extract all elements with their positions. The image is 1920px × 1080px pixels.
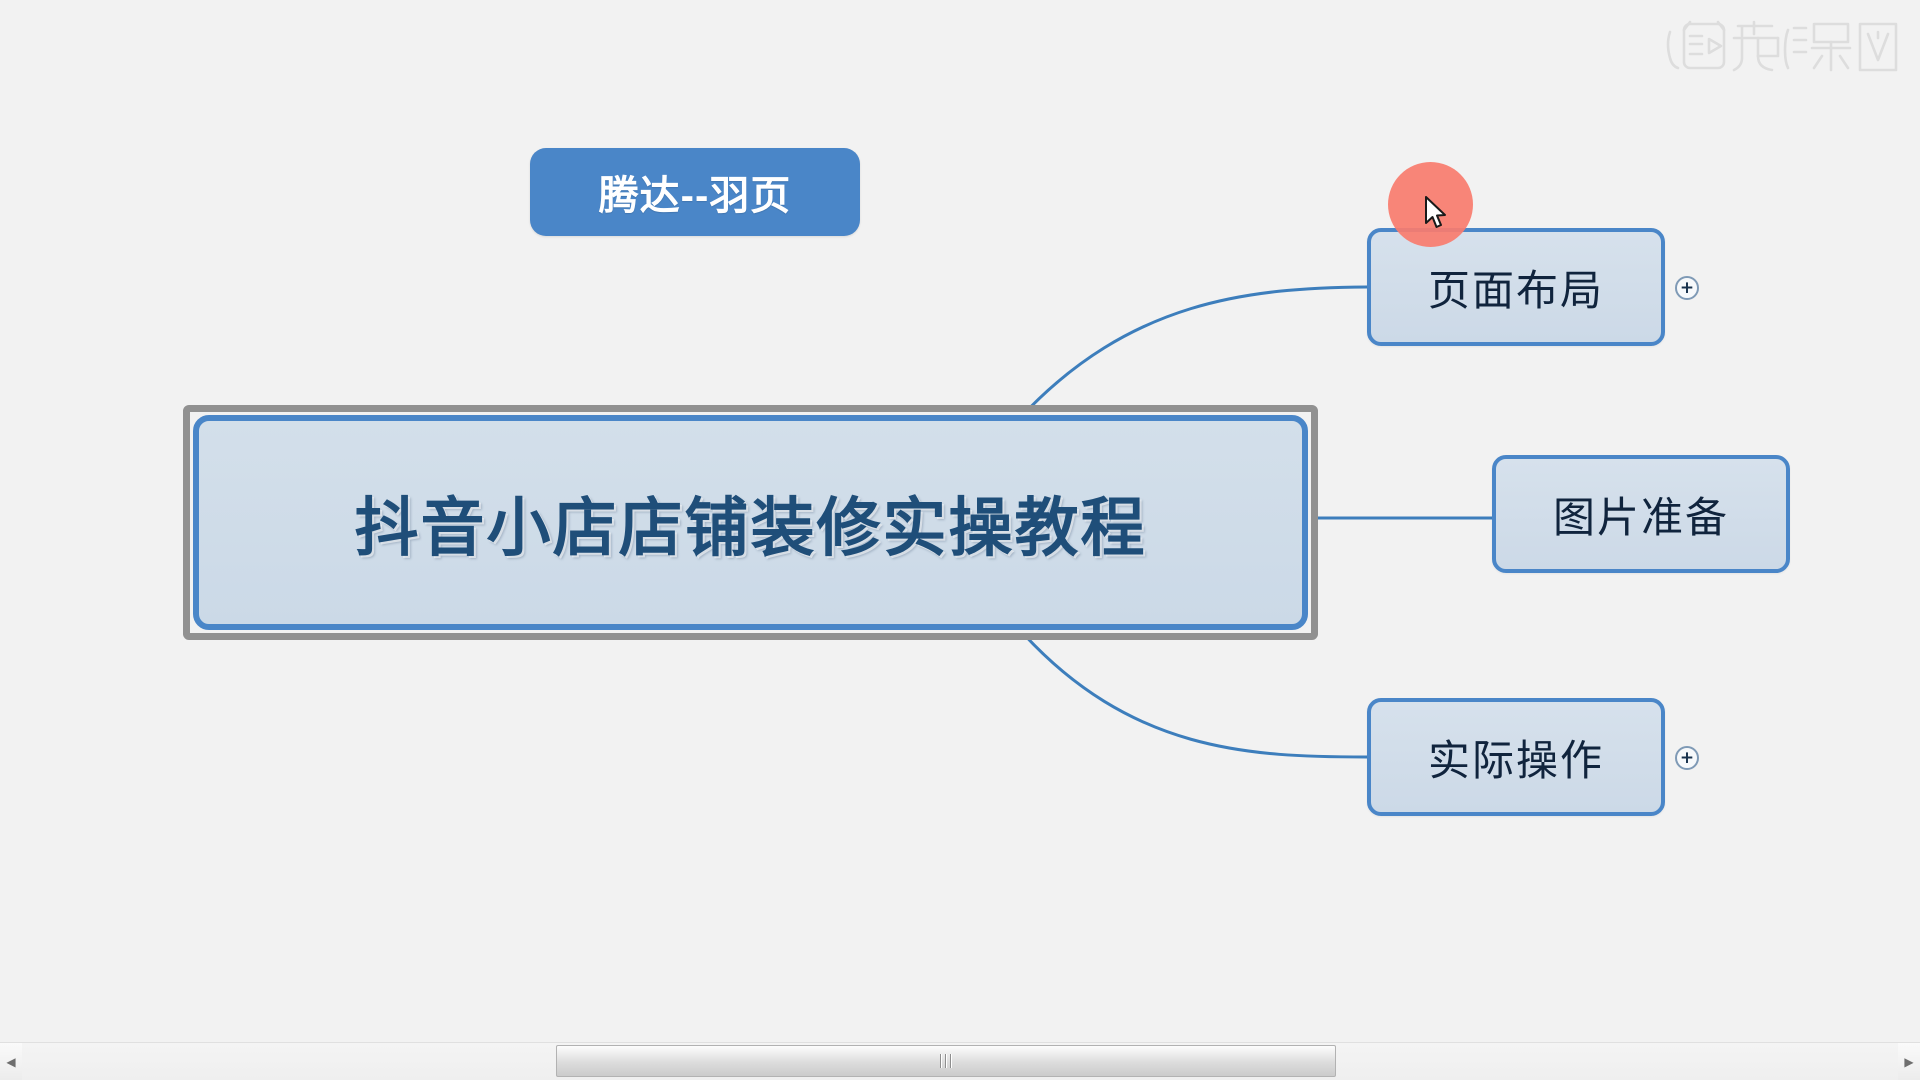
- plus-icon: +: [1680, 750, 1694, 767]
- branch-node-page-layout[interactable]: 页面布局: [1367, 228, 1665, 346]
- left-arrow-glyph: ◀: [6, 1055, 15, 1069]
- scroll-left-arrow-icon[interactable]: ◀: [0, 1043, 22, 1080]
- connector-page-layout: [1020, 287, 1367, 418]
- plus-icon: +: [1680, 280, 1694, 297]
- branch-node-label: 图片准备: [1553, 484, 1729, 545]
- expand-button-page-layout[interactable]: +: [1675, 276, 1699, 300]
- scrollbar-thumb[interactable]: [556, 1045, 1336, 1077]
- central-node-label: 抖音小店店铺装修实操教程: [355, 477, 1147, 569]
- author-badge[interactable]: 腾达--羽页: [530, 148, 860, 236]
- mind-map-canvas[interactable]: 腾达--羽页 抖音小店店铺装修实操教程 页面布局 + 图片准备 实际操作 +: [0, 0, 1920, 1042]
- expand-button-practice[interactable]: +: [1675, 746, 1699, 770]
- watermark-logo: [1662, 12, 1902, 84]
- author-badge-label: 腾达--羽页: [599, 163, 792, 221]
- mind-map-application: 腾达--羽页 抖音小店店铺装修实操教程 页面布局 + 图片准备 实际操作 +: [0, 0, 1920, 1080]
- scrollbar-grip-icon: [940, 1054, 952, 1068]
- branch-node-practice[interactable]: 实际操作: [1367, 698, 1665, 816]
- scroll-right-arrow-icon[interactable]: ▶: [1898, 1043, 1920, 1080]
- right-arrow-glyph: ▶: [1904, 1055, 1913, 1069]
- arrow-pointer-icon: [1424, 196, 1450, 232]
- horizontal-scrollbar[interactable]: ◀ ▶: [0, 1042, 1920, 1080]
- branch-node-label: 实际操作: [1428, 727, 1604, 788]
- scrollbar-track[interactable]: [22, 1043, 1898, 1080]
- branch-node-image-prep[interactable]: 图片准备: [1492, 455, 1790, 573]
- connector-practice: [1020, 630, 1367, 757]
- central-node[interactable]: 抖音小店店铺装修实操教程: [183, 405, 1318, 640]
- central-node-body[interactable]: 抖音小店店铺装修实操教程: [193, 415, 1308, 630]
- branch-node-label: 页面布局: [1428, 257, 1604, 318]
